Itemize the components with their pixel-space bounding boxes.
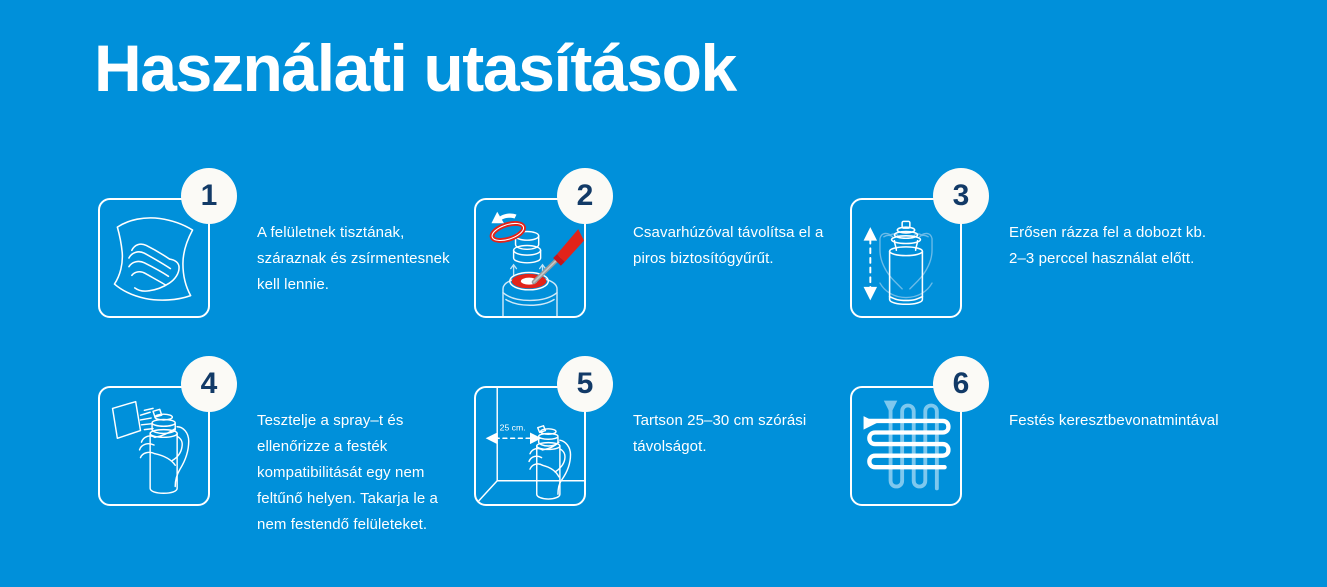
step-figure-5: 25 cm. [474,356,586,506]
step-text-5: Tartson 25–30 cm szórási távolságot. [586,356,850,460]
step-badge-4: 4 [181,356,237,412]
step-item-3: 3 Erősen rázza fel a dobozt kb. 2–3 perc… [850,168,1226,318]
steps-row-2: 4 Tesztelje a spray–t és ellenőrizze a f… [98,356,1248,538]
step-text-2: Csavarhúzóval távolítsa el a piros bizto… [586,168,850,272]
step-text-1: A felületnek tisztának, száraznak és zsí… [210,168,474,298]
infographic-page: Használati utasítások [0,0,1327,587]
step-item-4: 4 Tesztelje a spray–t és ellenőrizze a f… [98,356,474,538]
step-item-5: 25 cm. [474,356,850,538]
steps-row-1: 1 A felületnek tisztának, száraznak és z… [98,168,1248,318]
page-title: Használati utasítások [94,26,736,110]
step-figure-6: 6 [850,356,962,506]
step-badge-6: 6 [933,356,989,412]
step-badge-2: 2 [557,168,613,224]
step-text-6: Festés keresztbevonatmintával [962,356,1226,434]
steps-grid: 1 A felületnek tisztának, száraznak és z… [98,168,1248,538]
distance-label: 25 cm. [500,423,526,433]
step-text-4: Tesztelje a spray–t és ellenőrizze a fes… [210,356,474,538]
step-figure-3: 3 [850,168,962,318]
step-figure-1: 1 [98,168,210,318]
step-figure-4: 4 [98,356,210,506]
step-badge-5: 5 [557,356,613,412]
step-text-3: Erősen rázza fel a dobozt kb. 2–3 percce… [962,168,1226,272]
step-figure-2: 2 [474,168,586,318]
step-item-6: 6 Festés keresztbevonatmintával [850,356,1226,538]
step-badge-3: 3 [933,168,989,224]
step-item-1: 1 A felületnek tisztának, száraznak és z… [98,168,474,318]
step-badge-1: 1 [181,168,237,224]
step-item-2: 2 Csavarhúzóval távolítsa el a piros biz… [474,168,850,318]
